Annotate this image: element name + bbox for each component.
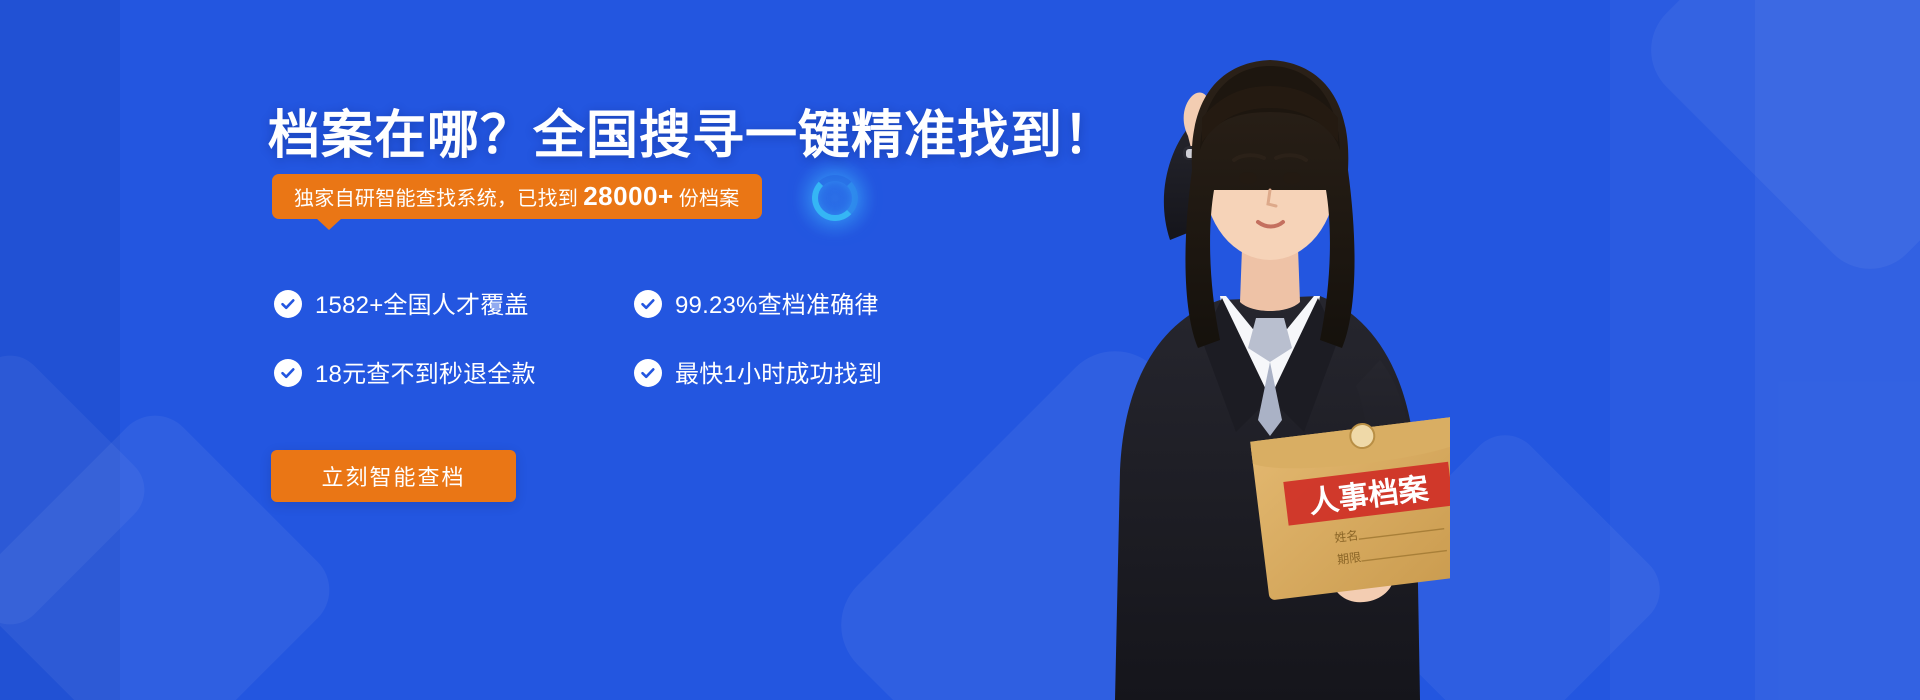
list-item: 最快1小时成功找到 <box>634 354 974 391</box>
check-circle-icon <box>274 290 302 318</box>
badge-count: 28000+ <box>578 181 678 212</box>
promo-banner: 档案在哪？全国搜寻一键精准找到！ 独家自研智能查找系统，已找到 28000+ 份… <box>0 0 1920 700</box>
banner-content: 档案在哪？全国搜寻一键精准找到！ 独家自研智能查找系统，已找到 28000+ 份… <box>268 0 1048 700</box>
feature-label: 1582+全国人才覆盖 <box>315 285 529 322</box>
feature-label: 99.23%查档准确律 <box>675 285 879 322</box>
list-item: 1582+全国人才覆盖 <box>274 285 634 322</box>
check-circle-icon <box>634 290 662 318</box>
list-item: 99.23%查档准确律 <box>634 285 974 322</box>
svg-text:姓名: 姓名 <box>1334 527 1360 545</box>
start-search-button[interactable]: 立刻智能查档 <box>271 450 516 502</box>
check-circle-icon <box>634 359 662 387</box>
badge-prefix-text: 独家自研智能查找系统，已找到 <box>294 182 578 211</box>
page-title: 档案在哪？全国搜寻一键精准找到！ <box>268 93 1116 168</box>
check-circle-icon <box>274 359 302 387</box>
feature-label: 最快1小时成功找到 <box>675 354 882 391</box>
feature-label: 18元查不到秒退全款 <box>315 354 536 391</box>
status-badge: 独家自研智能查找系统，已找到 28000+ 份档案 <box>272 174 762 219</box>
svg-text:期限: 期限 <box>1336 550 1362 567</box>
list-item: 18元查不到秒退全款 <box>274 354 634 391</box>
feature-list: 1582+全国人才覆盖 99.23%查档准确律 18元查不到秒退全款 最快1小时… <box>274 285 974 391</box>
badge-suffix-text: 份档案 <box>679 182 740 211</box>
person-photo: 人事档案 姓名 期限 <box>1020 0 1450 700</box>
